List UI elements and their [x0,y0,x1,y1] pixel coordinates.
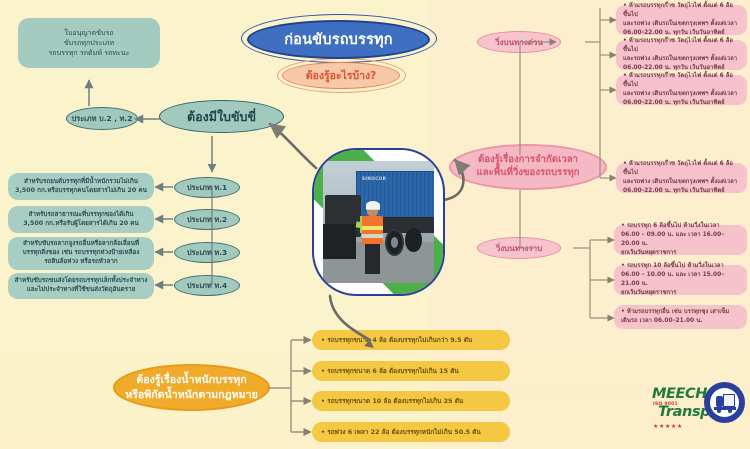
center-photo: SINOCOR [312,148,445,296]
photo-container-label: SINOCOR [362,176,386,181]
company-logo[interactable]: MEECHOKE ISO 9001 Transport ★★★★★ [652,382,746,438]
page-subtitle: ต้องรู้อะไรบ้าง? [282,62,400,89]
logo-truck-badge-icon [704,382,745,423]
logo-stars: ★★★★★ [653,423,683,430]
page-title: ก่อนขับรถบรรทุก [247,20,430,59]
infographic-canvas: ก่อนขับรถบรรทุก ต้องรู้อะไรบ้าง? ใบอนุญา… [0,0,750,449]
photo-scene: SINOCOR [323,161,434,283]
